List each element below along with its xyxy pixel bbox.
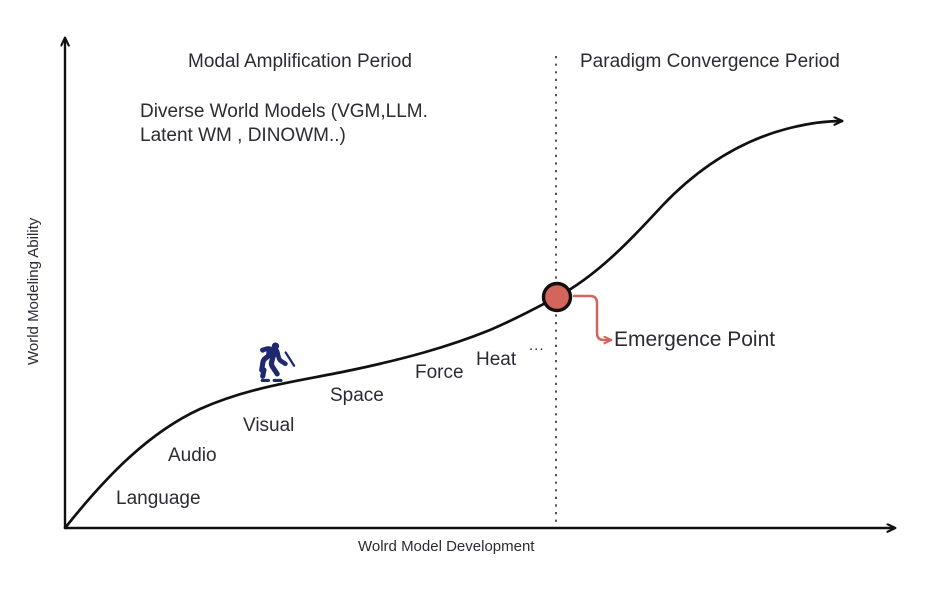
curve-label-force: Force [415, 363, 464, 382]
curve-label-visual: Visual [243, 416, 294, 435]
curve-label-space: Space [330, 386, 384, 405]
emergence-callout-arrow [574, 296, 611, 340]
emergence-point-marker[interactable] [544, 284, 571, 311]
y-axis-title: World Modeling Ability [26, 218, 41, 365]
hiker-icon [259, 343, 295, 382]
period-subtitle-modal-amplification: Diverse World Models (VGM,LLM. Latent WM… [140, 100, 428, 149]
emergence-point-label: Emergence Point [614, 329, 775, 350]
period-title-paradigm-convergence: Paradigm Convergence Period [580, 52, 840, 71]
curve-label-ellipsis: ... [529, 338, 545, 353]
s-curve [65, 121, 842, 528]
x-axis-title: Wolrd Model Development [358, 539, 534, 554]
figure-canvas: Modal Amplification Period Diverse World… [0, 0, 947, 595]
curve-label-heat: Heat [476, 350, 516, 369]
curve-label-language: Language [116, 489, 201, 508]
curve-label-audio: Audio [168, 446, 217, 465]
period-title-modal-amplification: Modal Amplification Period [188, 52, 412, 71]
